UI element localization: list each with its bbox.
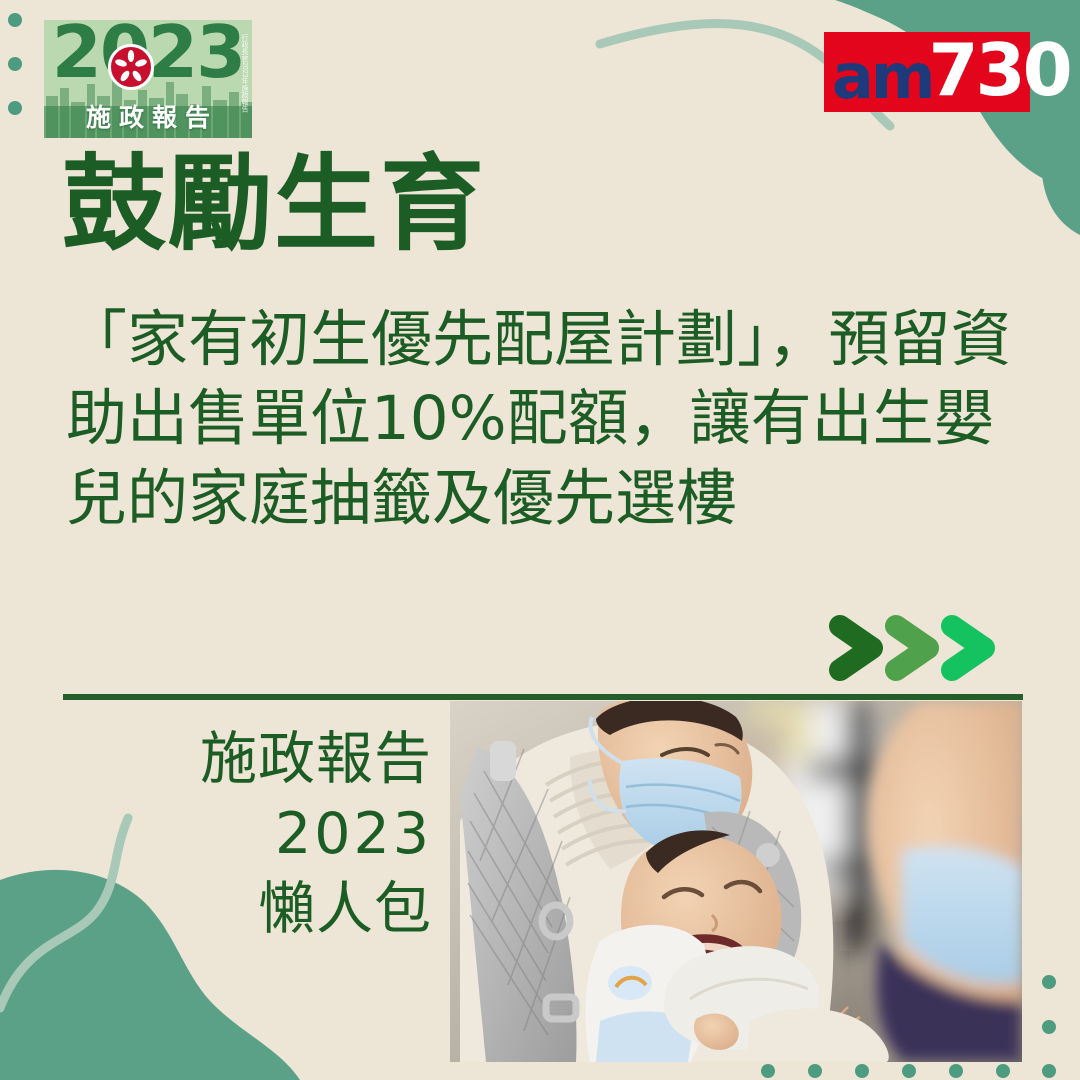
hong-kong-bauhinia-emblem <box>108 44 154 90</box>
caption-line-1: 施政報告 <box>120 722 432 797</box>
decor-dot <box>1042 975 1056 989</box>
chevron-right-icon <box>952 626 984 670</box>
caption-line-3: 懶人包 <box>120 872 432 947</box>
photo-mother-and-baby <box>450 701 1022 1062</box>
chevron-right-icon <box>840 626 872 670</box>
chevron-arrows-group <box>826 612 1026 684</box>
logo-prefix: am <box>832 46 932 108</box>
divider <box>63 694 1023 700</box>
decor-dot <box>8 101 22 115</box>
decor-dot <box>949 1064 963 1078</box>
page-title: 鼓勵生育 <box>62 150 486 259</box>
policy-address-badge: 2023 行政長官2023年施政報告 施政報告 <box>44 20 252 138</box>
infographic-card: 2023 行政長官2023年施政報告 施政報告 am 730 鼓勵生育 「家有初… <box>0 0 1080 1080</box>
decor-dot <box>1042 1020 1056 1034</box>
decor-dot <box>1042 1064 1056 1078</box>
decor-dot <box>808 1064 822 1078</box>
body-text: 「家有初生優先配屋計劃」，預留資助出售單位10%配額，讓有出生嬰兒的家庭抽籤及優… <box>66 300 1024 538</box>
am730-logo: am 730 <box>824 32 1030 112</box>
decor-dot <box>902 1064 916 1078</box>
logo-number: 730 <box>928 34 1069 106</box>
decor-dot <box>855 1064 869 1078</box>
decor-dot <box>8 13 22 27</box>
decor-dot <box>8 57 22 71</box>
caption-line-2: 2023 <box>120 797 432 872</box>
decor-dot <box>996 1064 1010 1078</box>
chevron-right-icon <box>896 626 928 670</box>
caption-block: 施政報告 2023 懶人包 <box>120 722 432 948</box>
badge-subtitle: 施政報告 <box>44 98 252 134</box>
decor-dot <box>761 1064 775 1078</box>
